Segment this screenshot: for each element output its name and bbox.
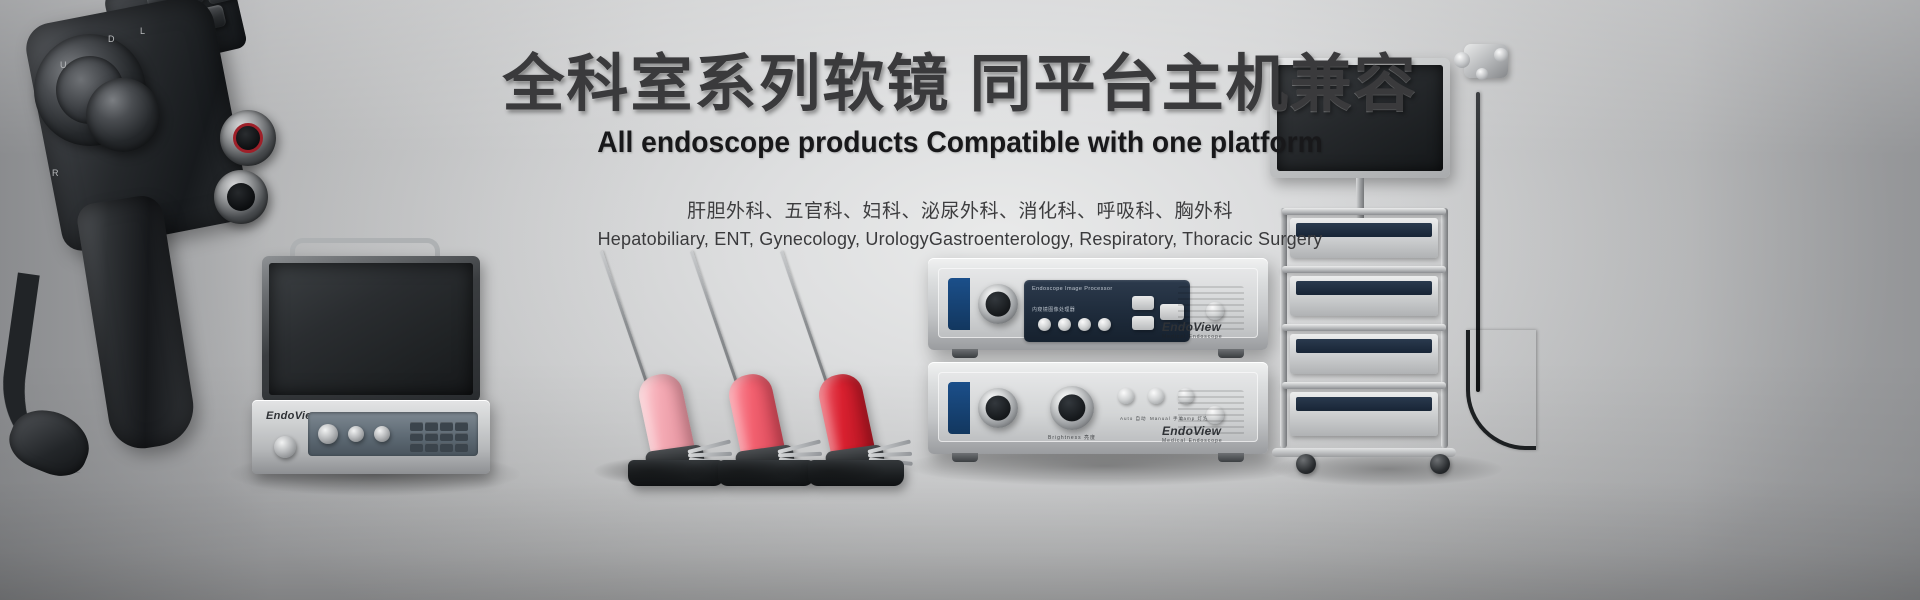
page-subtitle: All endoscope products Compatible with o… [58,126,1863,160]
processor-faceplate: Endoscope Image Processor 内窥镜图像处理器 EndoV… [938,268,1258,338]
light-source-brightness-dial [1050,386,1094,430]
endoscope-label-d: D [108,34,116,44]
console-key [410,433,423,442]
cart-device-2 [1290,276,1438,316]
departments-chinese: 肝胆外科、五官科、妇科、泌尿外科、消化科、呼吸科、胸外科 [0,196,1920,223]
processor-square-button-1 [1132,296,1154,310]
console-key [455,433,468,442]
console-key [425,422,438,431]
endoscope-button-3 [205,0,235,5]
headline-block: 全科室系列软镜 同平台主机兼容 All endoscope products C… [0,52,1920,250]
cart-shelf-3 [1282,324,1446,331]
light-source-button-manual [1148,388,1164,404]
cart-device-3-panel [1296,339,1432,353]
processor-foot-right [1218,349,1244,358]
console-dial-2 [348,426,364,442]
console-dial-1 [318,424,338,444]
processor-square-button-2 [1132,316,1154,330]
console-key [410,422,423,431]
cart-device-2-panel [1296,281,1432,295]
cart-caster-2 [1430,454,1450,474]
page-title: 全科室系列软镜 同平台主机兼容 [0,52,1920,118]
cart-shelf-4 [1282,382,1446,389]
console-key [440,443,453,452]
light-source-button-auto [1118,388,1134,404]
console-keypad [410,422,468,452]
console-dial-3 [374,426,390,442]
light-source-foot-left [952,453,978,462]
console-key [425,433,438,442]
console-key [410,443,423,452]
laparoscopic-instrument-red [780,252,950,482]
console-key [440,422,453,431]
instrument-3-shadow [774,458,886,484]
processor-panel-english: Endoscope Image Processor [1032,286,1113,292]
cart-device-4 [1290,392,1438,436]
processor-brand-label: EndoView [1162,320,1221,334]
console-key [440,433,453,442]
processor-nav-button-3 [1078,318,1091,331]
processor-nav-button-1 [1038,318,1051,331]
cart-shelf-2 [1282,266,1446,273]
cart-device-3 [1290,334,1438,374]
light-source-bottom: Brightness 亮度 Auto 自动 Manual 手动 Lamp 灯泡 … [928,362,1268,454]
light-source-foot-right [1218,453,1244,462]
processor-sub-brand-label: Medical Endoscope [1162,334,1223,340]
light-source-button-labels: Auto 自动 [1120,416,1147,422]
light-source-brand-label: EndoView [1162,424,1221,438]
light-source-dial-label: Brightness 亮度 [1048,434,1096,441]
light-source-sub-brand-label: Medical Endoscope [1162,438,1223,444]
processor-blue-accent [948,278,970,330]
console-key [455,422,468,431]
endoscope-label-l: L [140,26,146,36]
console-control-panel [308,412,478,456]
processor-nav-button-2 [1058,318,1071,331]
processor-main-dial [978,284,1018,324]
light-source-main-dial [978,388,1018,428]
scope-tube-curve [1466,330,1536,450]
console-key [455,443,468,452]
processor-foot-left [952,349,978,358]
departments-english: Hepatobiliary, ENT, Gynecology, UrologyG… [0,229,1920,250]
cart-device-4-panel [1296,397,1432,411]
light-source-blue-accent [948,382,970,434]
banner-root: 全科室系列软镜 同平台主机兼容 All endoscope products C… [0,0,1920,600]
cart-caster-1 [1296,454,1316,474]
light-source-faceplate: Brightness 亮度 Auto 自动 Manual 手动 Lamp 灯泡 … [938,372,1258,442]
image-processor-top: Endoscope Image Processor 内窥镜图像处理器 EndoV… [928,258,1268,350]
processor-panel-chinese: 内窥镜图像处理器 [1032,306,1075,313]
console-key [425,443,438,452]
processor-nav-button-4 [1098,318,1111,331]
